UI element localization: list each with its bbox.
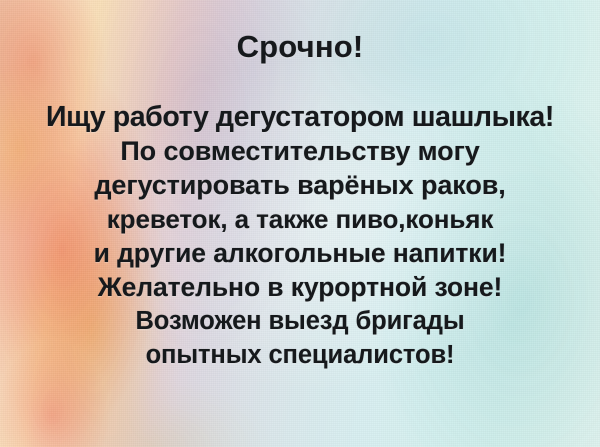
meme-poster: Срочно! Ищу работу дегустатором шашлыка!… [0, 0, 600, 447]
poster-body-line: и другие алкогольные напитки! [0, 236, 600, 270]
poster-body-line: дегустировать варёных раков, [0, 168, 600, 202]
poster-body-line: По совместительству могу [0, 134, 600, 168]
poster-body-line: Желательно в курортной зоне! [0, 270, 600, 304]
poster-text-layer: Срочно! Ищу работу дегустатором шашлыка!… [0, 0, 600, 447]
poster-body-line: креветок, а также пиво,коньяк [0, 202, 600, 236]
poster-body: Ищу работу дегустатором шашлыка! По совм… [0, 100, 600, 372]
poster-headline: Срочно! [0, 28, 600, 66]
poster-body-line: Возможен выезд бригады [0, 304, 600, 338]
poster-body-line: Ищу работу дегустатором шашлыка! [0, 100, 600, 134]
poster-body-line: опытных специалистов! [0, 338, 600, 372]
